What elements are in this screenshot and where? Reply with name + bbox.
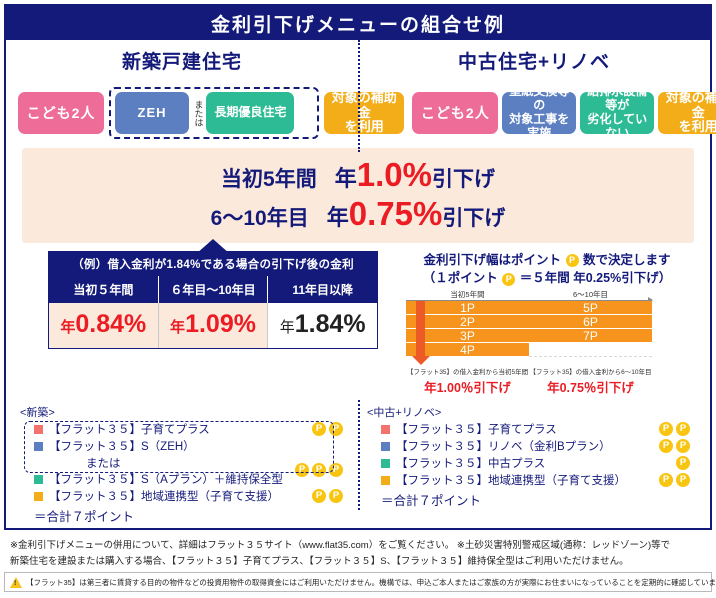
legend-points: P P P	[295, 463, 349, 477]
point-p-icon: P	[676, 439, 690, 453]
rate-table-caption: （例）借入金利が1.84%である場合の引下げ後の金利	[49, 252, 377, 276]
footnote: ※金利引下げメニューの併用について、詳細はフラット３５サイト（www.flat3…	[10, 538, 710, 569]
badge-subsidy-new-line1: 対象の補助金	[330, 91, 398, 121]
highlight-row-1: 当初5年間年1.0%引下げ	[22, 158, 694, 193]
rate-cell-value: 1.09%	[185, 310, 256, 338]
column-headings: 新築戸建住宅 中古住宅+リノベ	[6, 40, 710, 80]
point-foot: 【フラット35】の借入金利から当初5年間 年1.00％引下げ 【フラット35】の…	[406, 366, 652, 396]
point-grid: 1P 2P 3P 4P 5P 6P 7P	[406, 301, 652, 357]
page-title: 金利引下げメニューの組合せ例	[6, 6, 710, 40]
rate-table-header-cell: 11年目以降	[267, 276, 377, 303]
legend-color-swatch	[381, 425, 390, 434]
legend-row: 【フラット３５】S（Aプラン）＋維持保全型 P P P	[20, 471, 349, 488]
point-p-icon: P	[659, 439, 673, 453]
down-arrow-icon	[416, 301, 425, 357]
legend-color-swatch	[34, 442, 43, 451]
badge-children-new: こども2人	[18, 92, 104, 134]
point-cell: 5P	[529, 301, 652, 315]
legend-color-swatch	[34, 475, 43, 484]
legend-points: P	[676, 456, 696, 470]
legend-color-swatch	[381, 459, 390, 468]
point-p-icon: P	[312, 463, 326, 477]
legend-row: 【フラット３５】地域連携型（子育て支援） P P	[20, 488, 349, 505]
point-cell-empty	[529, 343, 652, 357]
legend-row: 【フラット３５】子育てプラス P P	[367, 421, 696, 438]
rate-table-cell: 年1.09%	[158, 303, 268, 348]
point-title-line2b: ＝５年間 年0.25%引下げ）	[520, 271, 671, 285]
highlight-row-2: 6～10年目年0.75%引下げ	[22, 197, 694, 232]
rate-table-wrap: （例）借入金利が1.84%である場合の引下げ後の金利 当初５年間 ６年目～10年…	[6, 251, 378, 395]
legend-row: 【フラット３５】S（ZEH）	[20, 438, 349, 455]
legend-color-swatch	[381, 442, 390, 451]
badge-children-used: こども2人	[412, 92, 498, 134]
badge-renovation-work-line2: 対象工事を実施	[508, 113, 570, 141]
legend-used: <中古+リノベ> 【フラット３５】子育てプラス P P 【フラット３５】リノベ（…	[353, 404, 700, 525]
legend-row: 【フラット３５】子育てプラス P P	[20, 421, 349, 438]
legend-row: 【フラット３５】中古プラス P	[367, 455, 696, 472]
legend-used-total: ＝合計７ポイント	[367, 490, 696, 509]
point-foot-right: 【フラット35】の借入金利から6～10年目 年0.75％引下げ	[529, 366, 652, 396]
point-diagram: 金利引下げ幅はポイント P 数で決定します （１ポイント P ＝５年間 年0.2…	[378, 251, 710, 395]
legend-color-swatch	[381, 476, 390, 485]
point-p-icon: P	[659, 473, 673, 487]
badge-group-new: こども2人 ZEH または 長期優良住宅 対象の補助金 を利用	[14, 84, 408, 142]
badge-plumbing-line1: 給排水設備等が	[586, 85, 648, 113]
badge-choki: 長期優良住宅	[206, 92, 294, 134]
point-foot-left-value: 年1.00％引下げ	[406, 377, 529, 396]
point-p-icon: P	[502, 273, 515, 286]
point-axis-left-label: 当初5年間	[406, 289, 529, 300]
point-foot-left: 【フラット35】の借入金利から当初5年間 年1.00％引下げ	[406, 366, 529, 396]
footnote-line-1: ※金利引下げメニューの併用について、詳細はフラット３５サイト（www.flat3…	[10, 538, 710, 554]
highlight-row-2-value: 0.75%	[349, 195, 443, 232]
point-p-icon: P	[676, 422, 690, 436]
badge-subsidy-new-line2: を利用	[345, 120, 384, 135]
point-foot-left-note: 【フラット35】の借入金利から当初5年間	[406, 366, 529, 376]
legend-row-label: 【フラット３５】S（ZEH）	[49, 438, 195, 454]
rate-table-header-cell: ６年目～10年目	[158, 276, 268, 303]
middle-section: （例）借入金利が1.84%である場合の引下げ後の金利 当初５年間 ６年目～10年…	[6, 251, 710, 395]
point-p-icon: P	[329, 489, 343, 503]
highlight-row-1-nen: 年	[335, 166, 357, 191]
legend-section: <新築> 【フラット３５】子育てプラス P P 【フラット３５】S（ZEH） ま…	[6, 404, 710, 525]
badge-plumbing: 給排水設備等が 劣化していない	[580, 92, 654, 134]
point-foot-right-note: 【フラット35】の借入金利から6～10年目	[529, 366, 652, 376]
legend-points: P P	[312, 489, 349, 503]
legend-row-label: 【フラット３５】子育てプラス	[49, 421, 210, 437]
rate-cell-nen: 年	[60, 319, 75, 336]
legend-points: P P	[659, 473, 696, 487]
rate-table-cell: 年0.84%	[49, 303, 158, 348]
badge-subsidy-new: 対象の補助金 を利用	[324, 92, 404, 134]
point-axis-right-label: 6～10年目	[529, 289, 652, 300]
warning-triangle-icon	[10, 577, 22, 588]
legend-row-label: 【フラット３５】地域連携型（子育て支援）	[396, 472, 626, 488]
badge-group-used: こども2人 壁紙交換等の 対象工事を実施 給排水設備等が 劣化していない 対象の…	[408, 84, 716, 142]
point-p-icon: P	[676, 473, 690, 487]
rate-highlight-box: 当初5年間年1.0%引下げ 6～10年目年0.75%引下げ	[22, 148, 694, 243]
warning-bar: 【フラット35】は第三者に賃貸する目的の物件などの投資用物件の取得資金にはご利用…	[4, 572, 712, 592]
badge-subsidy-used-line1: 対象の補助金	[664, 91, 716, 121]
highlight-row-2-suffix: 引下げ	[442, 207, 505, 230]
main-frame: 金利引下げメニューの組合せ例 新築戸建住宅 中古住宅+リノベ こども2人 ZEH…	[4, 4, 712, 530]
point-p-icon: P	[659, 422, 673, 436]
point-title-line1a: 金利引下げ幅はポイント	[424, 253, 562, 267]
column-heading-new: 新築戸建住宅	[6, 40, 358, 80]
point-title-line2a: （１ポイント	[423, 271, 498, 285]
highlight-row-1-period: 当初5年間	[221, 168, 317, 191]
rate-table: （例）借入金利が1.84%である場合の引下げ後の金利 当初５年間 ６年目～10年…	[48, 251, 378, 349]
legend-points: P P	[659, 422, 696, 436]
legend-row-label: 【フラット３５】中古プラス	[396, 455, 545, 471]
badge-or-label: または	[193, 100, 202, 127]
rate-table-body-row: 年0.84% 年1.09% 年1.84%	[49, 303, 377, 348]
rate-cell-value: 1.84%	[295, 310, 366, 338]
footnote-line-2: 新築住宅を建設または購入する場合、【フラット３５】子育てプラス、【フラット３５】…	[10, 554, 710, 570]
legend-row-label: 【フラット３５】リノベ（金利Bプラン）	[396, 438, 611, 454]
badge-plumbing-line2: 劣化していない	[586, 113, 648, 141]
badge-subsidy-used: 対象の補助金 を利用	[658, 92, 716, 134]
point-p-icon: P	[329, 463, 343, 477]
legend-new: <新築> 【フラット３５】子育てプラス P P 【フラット３５】S（ZEH） ま…	[16, 404, 353, 525]
infographic-page: 金利引下げメニューの組合せ例 新築戸建住宅 中古住宅+リノベ こども2人 ZEH…	[0, 0, 716, 598]
warning-text: 【フラット35】は第三者に賃貸する目的の物件などの投資用物件の取得資金にはご利用…	[26, 577, 716, 588]
legend-color-swatch	[34, 492, 43, 501]
legend-row: 【フラット３５】リノベ（金利Bプラン） P P	[367, 438, 696, 455]
column-heading-used: 中古住宅+リノベ	[358, 40, 710, 80]
legend-new-total: ＝合計７ポイント	[20, 506, 349, 525]
legend-used-title: <中古+リノベ>	[367, 404, 696, 420]
point-diagram-title: 金利引下げ幅はポイント P 数で決定します （１ポイント P ＝５年間 年0.2…	[384, 251, 710, 287]
rate-table-header-cell: 当初５年間	[49, 276, 158, 303]
point-cell: 7P	[529, 329, 652, 343]
point-p-icon: P	[295, 463, 309, 477]
highlight-row-1-suffix: 引下げ	[432, 168, 495, 191]
pointer-triangle-icon	[196, 239, 230, 254]
legend-row-label: 【フラット３５】S（Aプラン）＋維持保全型	[49, 471, 283, 487]
rate-cell-value: 0.84%	[75, 310, 146, 338]
legend-row-label: 【フラット３５】地域連携型（子育て支援）	[49, 488, 279, 504]
point-p-icon: P	[312, 422, 326, 436]
point-p-icon: P	[329, 422, 343, 436]
highlight-row-2-nen: 年	[327, 205, 349, 230]
point-p-icon: P	[312, 489, 326, 503]
point-column-right: 5P 6P 7P	[529, 301, 652, 357]
vertical-divider	[358, 40, 360, 152]
legend-color-swatch	[34, 425, 43, 434]
legend-points: P P	[312, 422, 349, 436]
point-title-line1b: 数で決定します	[583, 253, 671, 267]
point-axis-labels: 当初5年間 6～10年目	[406, 289, 652, 300]
point-p-icon: P	[676, 456, 690, 470]
highlight-row-2-period: 6～10年目	[211, 207, 309, 230]
point-cell: 6P	[529, 315, 652, 329]
legend-new-title: <新築>	[20, 404, 349, 420]
point-foot-right-value: 年0.75％引下げ	[529, 377, 652, 396]
point-p-icon: P	[566, 254, 579, 267]
badge-subsidy-used-line2: を利用	[679, 120, 716, 135]
badge-renovation-work-line1: 壁紙交換等の	[508, 85, 570, 113]
legend-row: 【フラット３５】地域連携型（子育て支援） P P	[367, 472, 696, 489]
rate-cell-nen: 年	[280, 319, 295, 336]
rate-table-header-row: 当初５年間 ６年目～10年目 11年目以降	[49, 276, 377, 303]
highlight-row-1-value: 1.0%	[357, 156, 432, 193]
legend-points: P P	[659, 439, 696, 453]
badge-or-group: ZEH または 長期優良住宅	[109, 87, 319, 139]
rate-cell-nen: 年	[170, 319, 185, 336]
badge-renovation-work: 壁紙交換等の 対象工事を実施	[502, 92, 576, 134]
badge-zeh: ZEH	[115, 92, 189, 134]
legend-row-label: 【フラット３５】子育てプラス	[396, 421, 557, 437]
rate-table-cell: 年1.84%	[267, 303, 377, 348]
